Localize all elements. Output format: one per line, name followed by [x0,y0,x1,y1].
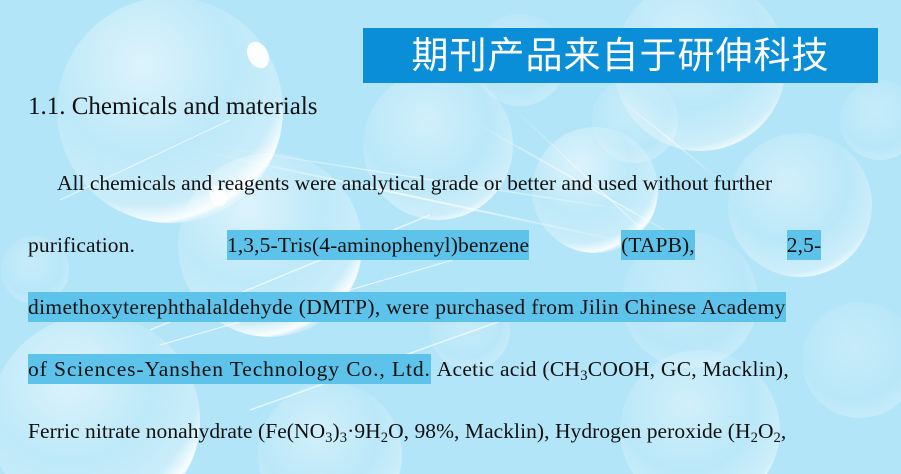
line-5-a: Ferric nitrate nonahydrate (Fe(NO [28,419,325,443]
document-content: 1.1. Chemicals and materials All chemica… [28,88,873,474]
paragraph-line-2: purification.1,3,5-Tris(4-aminophenyl)be… [28,230,873,292]
line-4-plain-text: Acetic acid (CH3COOH, GC, Macklin), [437,357,789,381]
paragraph-line-3: dimethoxyterephthalaldehyde (DMTP), were… [28,292,873,354]
line-5-c: ·9H [347,419,381,443]
line-2-highlight-tapb-abbr: (TAPB), [621,230,695,260]
paragraph-line-1: All chemicals and reagents were analytic… [28,168,873,230]
line-4-acetic-acid-b: COOH, GC, Macklin), [588,357,789,381]
paragraph-line-4: of Sciences-Yanshen Technology Co., Ltd.… [28,354,873,416]
section-heading: 1.1. Chemicals and materials [28,88,873,126]
subscript-outer-3: 3 [340,430,347,446]
line-5-f: , [781,419,786,443]
subscript-no3-3: 3 [325,430,332,446]
slide-page: 期刊产品来自于研伸科技 1.1. Chemicals and materials… [0,0,901,474]
paragraph-line-5: Ferric nitrate nonahydrate (Fe(NO3)3·9H2… [28,416,873,474]
line-5-text: Ferric nitrate nonahydrate (Fe(NO3)3·9H2… [28,416,786,453]
subscript-3: 3 [580,368,588,384]
line-5-b: ) [333,419,340,443]
line-4-acetic-acid-a: Acetic acid (CH [437,357,580,381]
line-2-highlight-25-prefix: 2,5- [787,230,821,260]
line-5-e: O [758,419,774,443]
title-banner: 期刊产品来自于研伸科技 [363,28,878,83]
line-2-word-purification: purification. [28,230,135,260]
subscript-h2o-2: 2 [381,430,388,446]
line-1-text: All chemicals and reagents were analytic… [57,168,772,198]
subscript-h2o2-o: 2 [774,430,781,446]
subscript-h2o2-h: 2 [751,430,758,446]
line-3-highlight-text: dimethoxyterephthalaldehyde (DMTP), were… [28,292,786,322]
line-4-highlight-text: of Sciences-Yanshen Technology Co., Ltd. [28,354,431,384]
line-5-d: O, 98%, Macklin), Hydrogen peroxide (H [388,419,751,443]
line-2-highlight-tapb-name: 1,3,5-Tris(4-aminophenyl)benzene [227,230,529,260]
